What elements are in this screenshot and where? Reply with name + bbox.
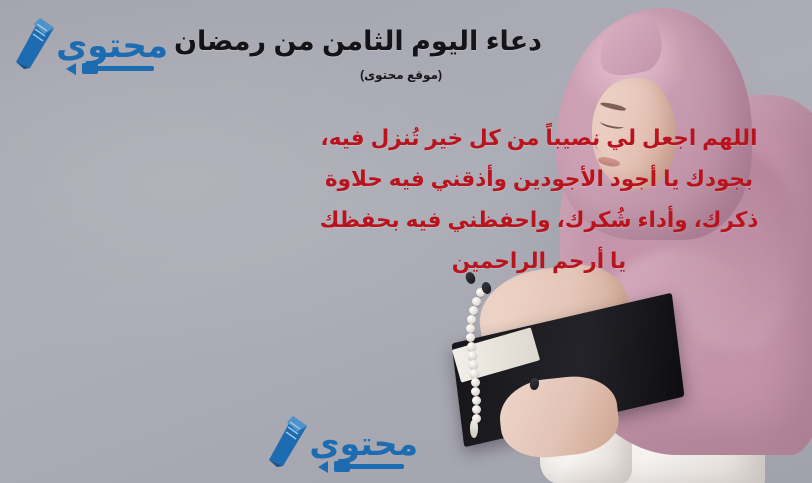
logo-plug-icon — [334, 461, 350, 472]
page-subtitle: (موقع محتوى) — [360, 68, 442, 82]
pen-nib-icon — [263, 414, 309, 473]
beads-tassel — [470, 420, 478, 438]
logo-top[interactable]: محتوى — [10, 16, 168, 75]
logo-wordmark: محتوى — [309, 427, 418, 460]
logo-arrow-icon — [318, 461, 328, 473]
pen-nib-icon — [10, 16, 56, 75]
logo-bottom[interactable]: محتوى — [263, 414, 418, 473]
prayer-text: اللهم اجعل لي نصيباً من كل خير تُنزل فيه… — [304, 118, 774, 282]
prayer-line: ذكرك، وأداء شُكرك، واحفظني فيه بحفظك — [304, 200, 774, 241]
prayer-beads — [462, 288, 496, 438]
prayer-line: يا أرحم الراحمين — [304, 241, 774, 282]
prayer-line: اللهم اجعل لي نصيباً من كل خير تُنزل فيه… — [304, 118, 774, 159]
logo-plug-icon — [82, 63, 98, 74]
logo-arrow-icon — [66, 63, 76, 75]
prayer-line: بجودك يا أجود الأجودين وأذقني فيه حلاوة — [304, 159, 774, 200]
logo-wordmark: محتوى — [56, 29, 168, 63]
poster-canvas: محتوى محتوى — [0, 0, 812, 483]
page-title: دعاء اليوم الثامن من رمضان — [174, 26, 542, 57]
